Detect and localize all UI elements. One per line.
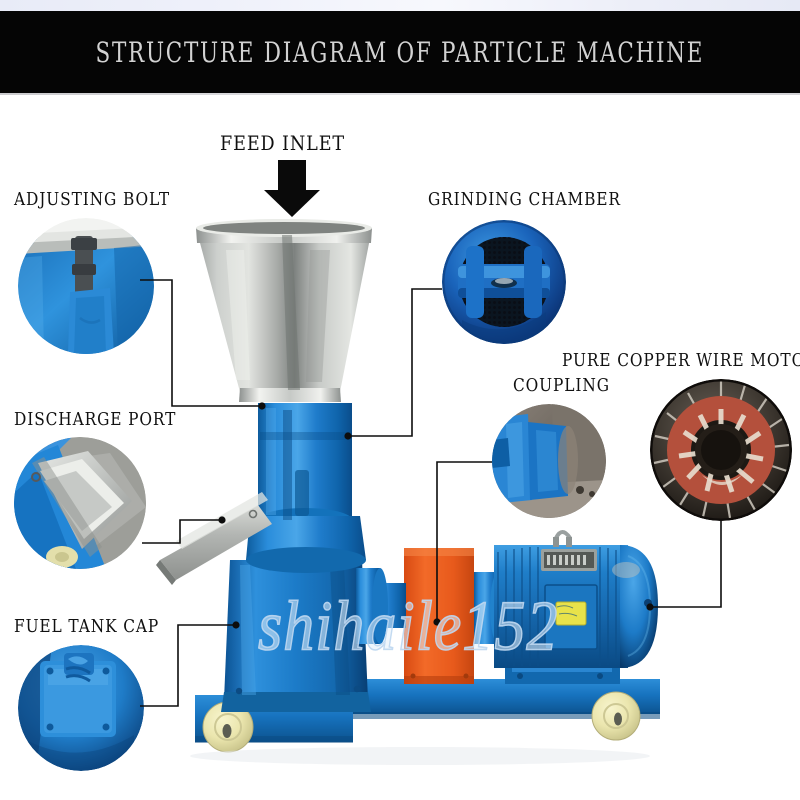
diagram-page: STRUCTURE DIAGRAM OF PARTICLE MACHINE bbox=[0, 0, 800, 800]
grinding-chamber-housing bbox=[246, 403, 366, 573]
inset-coupling bbox=[492, 404, 606, 518]
electric-motor bbox=[494, 532, 658, 684]
callout-label-grinding-chamber: GRINDING CHAMBER bbox=[428, 192, 621, 210]
feed-hopper bbox=[196, 219, 372, 402]
callout-label-fuel-tank-cap: FUEL TANK CAP bbox=[14, 619, 159, 637]
coupling-guard bbox=[404, 548, 474, 684]
inset-adjusting-bolt bbox=[18, 218, 154, 354]
callout-label-feed-inlet: FEED INLET bbox=[220, 133, 345, 153]
inset-copper-wire-motor bbox=[650, 379, 792, 521]
gearbox-body bbox=[221, 560, 371, 712]
inset-fuel-tank-cap bbox=[18, 645, 144, 771]
callout-label-adjusting-bolt: ADJUSTING BOLT bbox=[14, 192, 170, 210]
inset-discharge-port bbox=[14, 437, 146, 569]
inset-grinding-chamber bbox=[442, 220, 566, 344]
callout-label-coupling: COUPLING bbox=[513, 378, 610, 396]
callout-label-pure-copper-wire-motor: PURE COPPER WIRE MOTOR bbox=[562, 353, 800, 371]
feed-inlet-arrow-icon bbox=[262, 160, 322, 218]
callout-label-discharge-port: DISCHARGE PORT bbox=[14, 412, 176, 430]
